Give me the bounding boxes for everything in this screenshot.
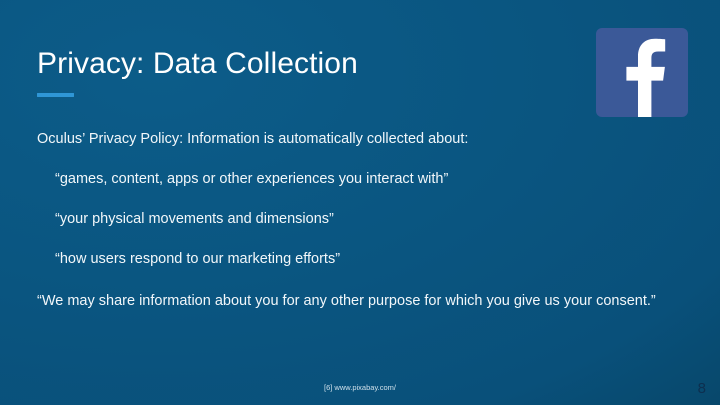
- quote-item-3: “how users respond to our marketing effo…: [55, 249, 685, 270]
- closing-paragraph: “We may share information about you for …: [37, 289, 677, 314]
- facebook-f-icon: [596, 28, 688, 117]
- source-citation: [6] www.pixabay.com/: [0, 383, 720, 393]
- quote-item-1: “games, content, apps or other experienc…: [55, 169, 685, 190]
- title-accent-bar: [37, 93, 74, 97]
- body-content: Oculus’ Privacy Policy: Information is a…: [37, 129, 685, 314]
- page-number: 8: [698, 379, 706, 398]
- quote-item-2: “your physical movements and dimensions”: [55, 209, 685, 230]
- slide: Privacy: Data Collection Oculus’ Privacy…: [0, 0, 720, 405]
- title-block: Privacy: Data Collection: [37, 46, 577, 97]
- intro-line: Oculus’ Privacy Policy: Information is a…: [37, 129, 685, 150]
- page-title: Privacy: Data Collection: [37, 46, 577, 82]
- facebook-logo: [596, 28, 688, 117]
